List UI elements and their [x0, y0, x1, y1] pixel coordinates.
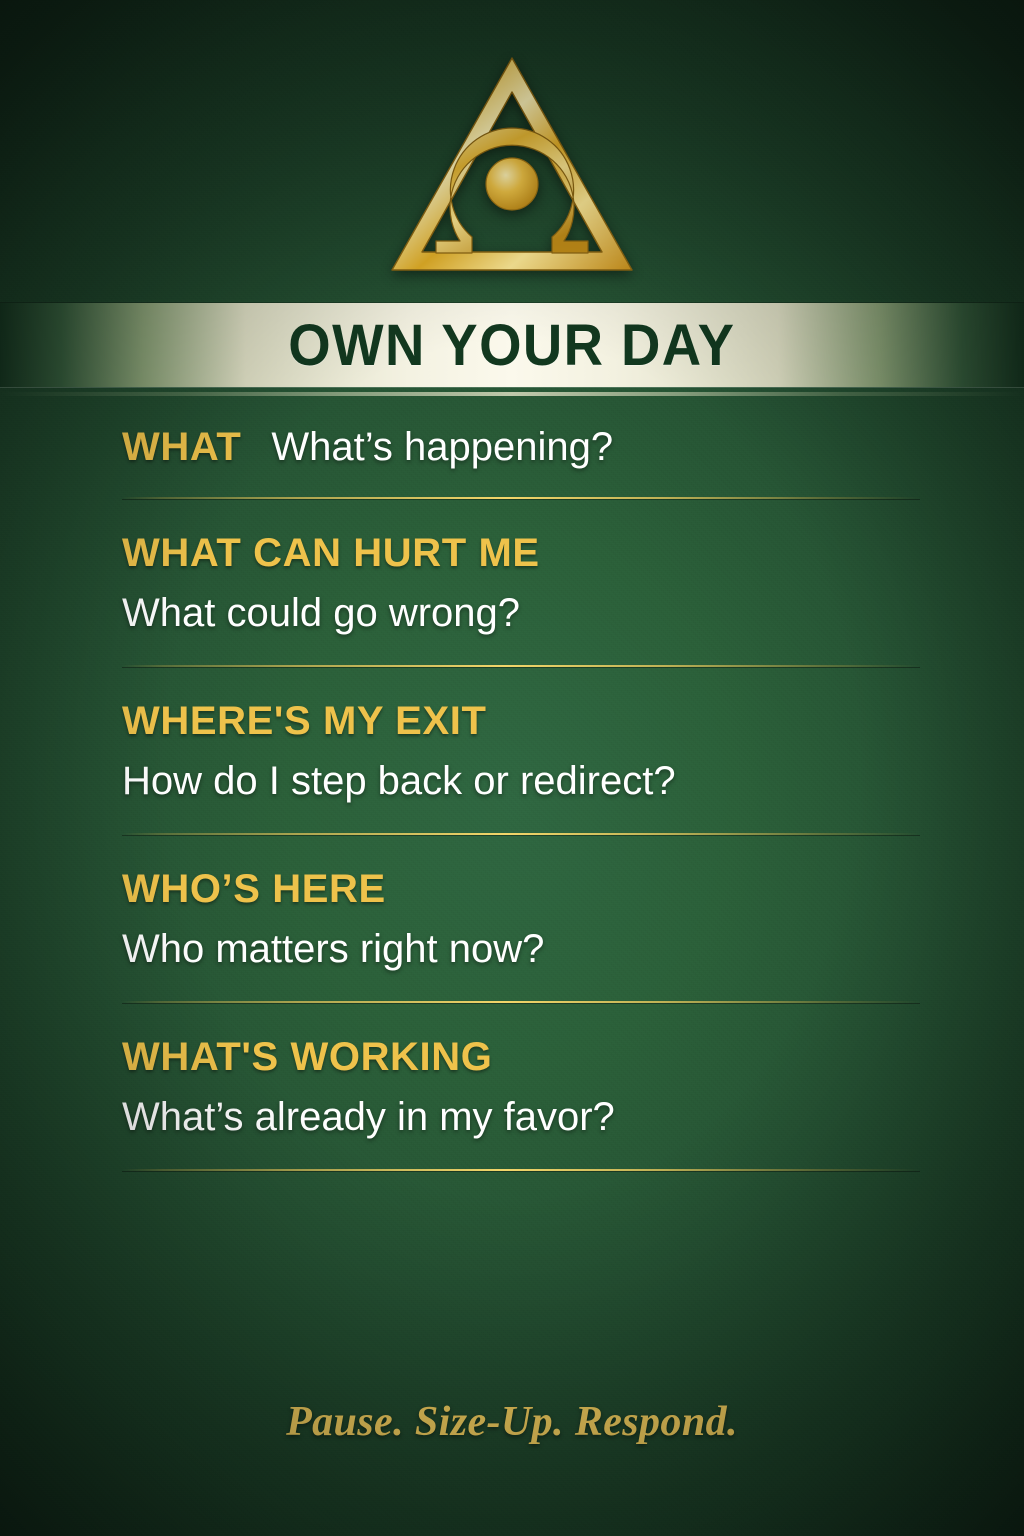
- divider: [122, 665, 920, 667]
- list-item-question: What could go wrong?: [122, 590, 920, 637]
- footer-tagline: Pause. Size-Up. Respond.: [286, 1399, 738, 1445]
- list-item-question: What’s happening?: [271, 424, 613, 471]
- checklist: WHAT What’s happening? WHAT CAN HURT ME …: [122, 424, 920, 1171]
- list-item-label: WHAT CAN HURT ME: [122, 531, 920, 576]
- divider: [122, 833, 920, 835]
- page-title: OWN YOUR DAY: [288, 312, 735, 379]
- list-item-question: Who matters right now?: [122, 926, 920, 973]
- logo-container: [0, 52, 1024, 282]
- omega-triangle-emblem-icon: [386, 52, 638, 282]
- divider: [122, 1169, 920, 1171]
- list-item-label: WHO’S HERE: [122, 867, 920, 912]
- list-item: WHO’S HERE Who matters right now?: [122, 867, 920, 973]
- list-item-question: What’s already in my favor?: [122, 1094, 920, 1141]
- list-item: WHERE'S MY EXIT How do I step back or re…: [122, 699, 920, 805]
- list-item-label: WHERE'S MY EXIT: [122, 699, 920, 744]
- footer: Pause. Size-Up. Respond.: [0, 1398, 1024, 1446]
- list-item: WHAT'S WORKING What’s already in my favo…: [122, 1035, 920, 1141]
- divider: [122, 1001, 920, 1003]
- poster-root: OWN YOUR DAY WHAT What’s happening? WHAT…: [0, 0, 1024, 1536]
- list-item: WHAT What’s happening?: [122, 424, 920, 471]
- list-item: WHAT CAN HURT ME What could go wrong?: [122, 531, 920, 637]
- list-item-question: How do I step back or redirect?: [122, 758, 920, 805]
- list-item-label: WHAT: [122, 425, 241, 470]
- list-item-label: WHAT'S WORKING: [122, 1035, 920, 1080]
- divider: [122, 497, 920, 499]
- list-item-row: WHAT What’s happening?: [122, 424, 920, 471]
- title-banner: OWN YOUR DAY: [0, 303, 1024, 387]
